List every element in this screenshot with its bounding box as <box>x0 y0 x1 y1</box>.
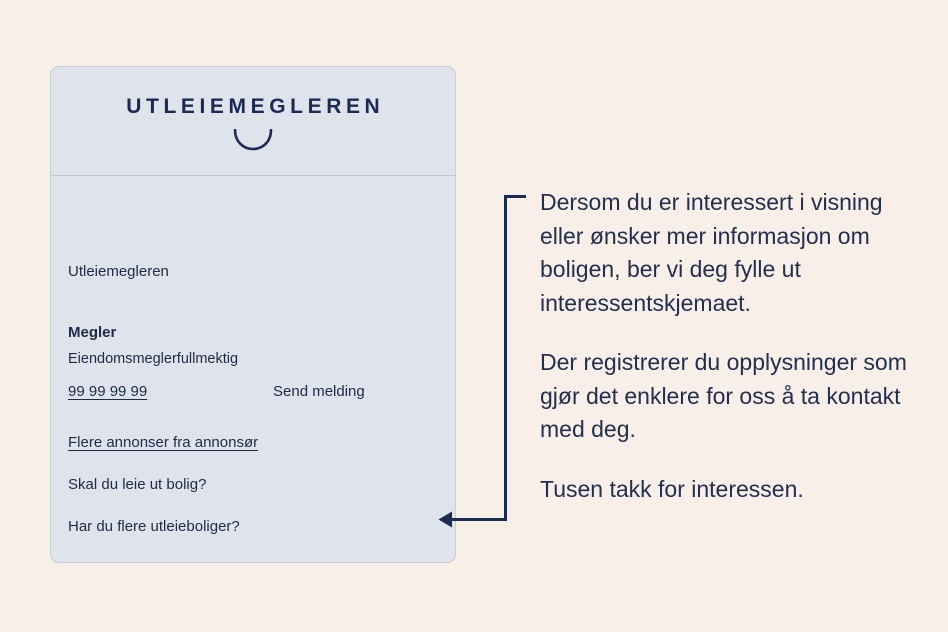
agent-details: Megler Eiendomsmeglerfullmektig 99 99 99… <box>68 325 438 402</box>
phone-number-link[interactable]: 99 99 99 99 <box>68 384 147 399</box>
callout-paragraph-2: Der registrerer du opplysninger som gjør… <box>540 346 912 447</box>
rent-out-home-link[interactable]: Skal du leie ut bolig? <box>68 477 438 492</box>
company-name: Utleiemegleren <box>68 264 169 279</box>
more-ads-from-advertiser-link[interactable]: Flere annonser fra annonsør <box>68 435 438 450</box>
card-body: Utleiemegleren Megler Eiendomsmeglerfull… <box>51 177 455 563</box>
callout-paragraph-1: Dersom du er interessert i visning eller… <box>540 186 912 320</box>
callout-paragraph-3: Tusen takk for interessen. <box>540 473 912 507</box>
smile-arc-icon <box>232 129 274 151</box>
card-header: UTLEIEMEGLEREN <box>51 67 455 176</box>
callout-text: Dersom du er interessert i visning eller… <box>540 186 912 506</box>
more-rental-homes-link[interactable]: Har du flere utleieboliger? <box>68 519 438 534</box>
screenshot-stage: UTLEIEMEGLEREN Utleiemegleren Megler Eie… <box>0 0 948 632</box>
advertiser-links: Flere annonser fra annonsør Skal du leie… <box>68 435 438 534</box>
brand-wordmark: UTLEIEMEGLEREN <box>51 96 455 117</box>
agent-contact-card: UTLEIEMEGLEREN Utleiemegleren Megler Eie… <box>50 66 456 563</box>
agent-role-subtitle: Eiendomsmeglerfullmektig <box>68 352 438 367</box>
agent-role-title: Megler <box>68 325 438 340</box>
send-message-link[interactable]: Send melding <box>273 384 365 399</box>
agent-contact-row: 99 99 99 99 Send melding <box>68 384 438 402</box>
